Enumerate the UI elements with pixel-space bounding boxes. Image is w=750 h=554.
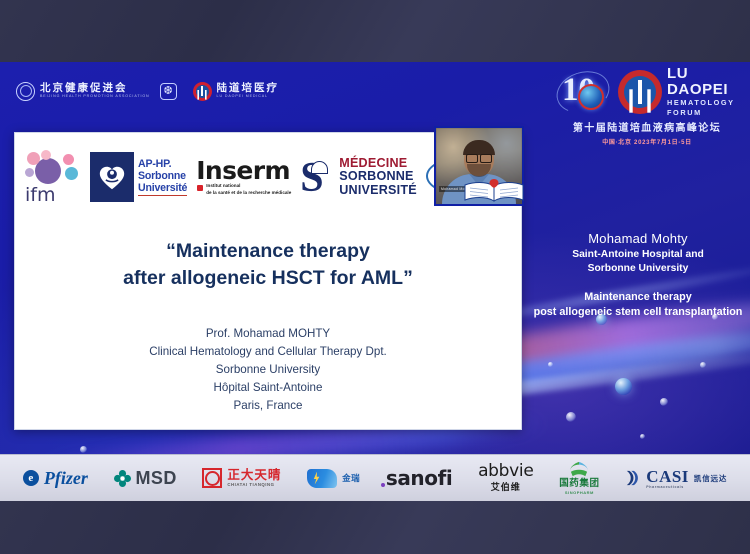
slide-subtitle-line: Clinical Hematology and Cellular Therapy… [35,343,501,361]
aphp-heart-svg [97,162,127,192]
bokeh-dot-icon [80,446,87,453]
msd-wordmark: MSD [136,468,177,489]
speaker-topic-line2: post allogeneic stem cell transplantatio… [530,305,746,320]
logo-beijing-health-promotion-association: 北京健康促进会 BEIJING HEALTH PROMOTION ASSOCIA… [16,82,150,101]
logo-ifm: ifm [23,148,81,206]
sanofi-wordmark: sanofi [386,468,453,488]
logo-inserm: Inserm Institut national de la santé et … [196,158,291,197]
speaker-topic: Maintenance therapy post allogeneic stem… [530,290,746,319]
inserm-wordmark: Inserm [196,158,291,183]
speaker-affiliation-line2: Sorbonne University [530,262,746,276]
speaker-info-panel: Mohamad Mohty Saint-Antoine Hospital and… [530,230,746,319]
slide-subtitle-line: Sorbonne University [35,361,501,379]
ldp-cross-badge-icon [193,82,212,101]
pfizer-oval-icon [23,470,39,486]
bokeh-dot-icon [640,434,645,439]
sponsor-sinopharm: 国药集团 SINOPHARM [559,461,599,495]
forum-logo: 10 LU DAOPEI HEMATOLOGY FORUM 第十届陆道培血液病高… [554,66,740,146]
presentation-frame: 北京健康促进会 BEIJING HEALTH PROMOTION ASSOCIA… [0,62,750,501]
tenth-anniversary-mark: 10 [554,70,616,114]
dome-shape-icon [311,161,328,174]
abbvie-wordmark: abbvie [478,463,533,481]
sorbonne-dome-icon: S [300,155,336,199]
sponsor-abbvie: abbvie 艾伯维 [478,463,533,494]
glasses-icon [466,154,492,161]
casi-wordmark: CASI [646,468,689,485]
inserm-sub2: de la santé et de la recherche médicale [206,190,291,197]
snowflake-icon: ❆ [160,83,177,100]
sponsor-pfizer: Pfizer [23,469,88,487]
chiatai-en-name: CHIATAI TIANQING [227,482,281,487]
bokeh-dot-icon [660,398,668,406]
aphp-line1: AP-HP. [138,158,187,170]
aphp-line3: Université [138,182,187,194]
sponsor-bar: Pfizer MSD 正大天晴 CHIATAI TIANQING [0,454,750,501]
sponsor-sanofi: sanofi [386,468,453,488]
casi-cn-name: 凯信远达 [694,473,727,484]
msu-line1: MÉDECINE [339,157,417,171]
letterbox-bottom [0,501,750,554]
sanofi-dot-icon [381,483,385,487]
blue-swoosh-cn-name: 金瑞 [342,472,360,484]
bokeh-dot-icon [566,412,576,422]
speaker-topic-line1: Maintenance therapy [530,290,746,305]
speaker-affiliation-line1: Saint-Antoine Hospital and [530,248,746,262]
ifm-blobs-icon [25,150,81,186]
logo-medecine-sorbonne-universite: S MÉDECINE SORBONNE UNIVERSITÉ [300,155,417,199]
sponsor-chiatai-tianqing: 正大天晴 CHIATAI TIANQING [202,468,281,488]
letterbox-top [0,0,750,62]
msd-clover-icon [114,470,131,487]
globe-icon [578,84,604,110]
open-book-emblem-icon [462,178,526,204]
aphp-underline [138,195,187,197]
ldp-medical-seal-icon [618,70,662,114]
bokeh-dot-icon [700,362,706,368]
sinopharm-en-name: SINOPHARM [565,490,594,495]
chiatai-square-icon [202,468,222,488]
bokeh-dot-icon [548,362,553,367]
msu-line3: UNIVERSITÉ [339,184,417,198]
chiatai-cn-name: 正大天晴 [227,469,281,483]
logo-lu-daopei-medical: 陆道培医疗 LU DAOPEI MEDICAL [193,82,280,101]
slide-subtitle-line: Prof. Mohamad MOHTY [35,325,501,343]
sponsor-casi: CASI Pharmaceuticals 凯信远达 [625,468,727,489]
assoc-en-name: BEIJING HEALTH PROMOTION ASSOCIATION [40,94,150,99]
msu-line2: SORBONNE [339,170,417,184]
forum-logo-row: 10 LU DAOPEI HEMATOLOGY FORUM [554,66,740,118]
ifm-wordmark: ifm [25,186,55,205]
forum-title-cn: 第十届陆道培血液病高峰论坛 [573,119,721,134]
inserm-red-dot-icon [197,185,203,191]
slide-subtitle-line: Paris, France [35,397,501,415]
assoc-cn-name: 陆道培医疗 [217,82,280,94]
association-logos: 北京健康促进会 BEIJING HEALTH PROMOTION ASSOCIA… [16,82,279,101]
logo-ap-hp-sorbonne-universite: AP-HP. Sorbonne Université [90,152,187,202]
speaker-name: Mohamad Mohty [530,230,746,248]
slide-title-line1: “Maintenance therapy [35,238,501,265]
slide-subtitle-line: Hôpital Saint-Antoine [35,379,501,397]
slide-title-line2: after allogeneic HSCT for AML” [35,265,501,292]
blue-swoosh-icon [307,469,337,488]
circular-seal-icon [16,82,35,101]
aphp-heart-icon [90,152,134,202]
forum-title-en-line1: LU DAOPEI [667,66,740,98]
msu-wordmark: MÉDECINE SORBONNE UNIVERSITÉ [339,157,417,198]
sinopharm-cn-name: 国药集团 [559,479,599,490]
assoc-cn-name: 北京健康促进会 [40,82,150,94]
casi-wave-icon [625,469,641,487]
abbvie-cn-name: 艾伯维 [478,480,533,493]
casi-en-name: Pharmaceuticals [646,485,689,489]
slide-subtitle: Prof. Mohamad MOHTY Clinical Hematology … [15,325,521,415]
sponsor-msd: MSD [114,468,177,489]
screenshot-root: 北京健康促进会 BEIJING HEALTH PROMOTION ASSOCIA… [0,0,750,554]
bokeh-orb-icon [615,378,632,395]
aphp-line2: Sorbonne [138,170,187,182]
slide-title: “Maintenance therapy after allogeneic HS… [15,238,521,292]
sponsor-blue-swoosh: 金瑞 [307,469,360,488]
pfizer-wordmark: Pfizer [44,469,88,487]
forum-date-line: 中国·北京 2023年7月1日-5日 [602,137,692,146]
sinopharm-leaf-icon [568,461,590,479]
forum-title-en-line2: HEMATOLOGY FORUM [667,98,740,118]
forum-title-block: LU DAOPEI HEMATOLOGY FORUM [667,66,740,118]
aphp-wordmark: AP-HP. Sorbonne Université [134,152,187,202]
assoc-en-name: LU DAOPEI MEDICAL [217,94,280,99]
